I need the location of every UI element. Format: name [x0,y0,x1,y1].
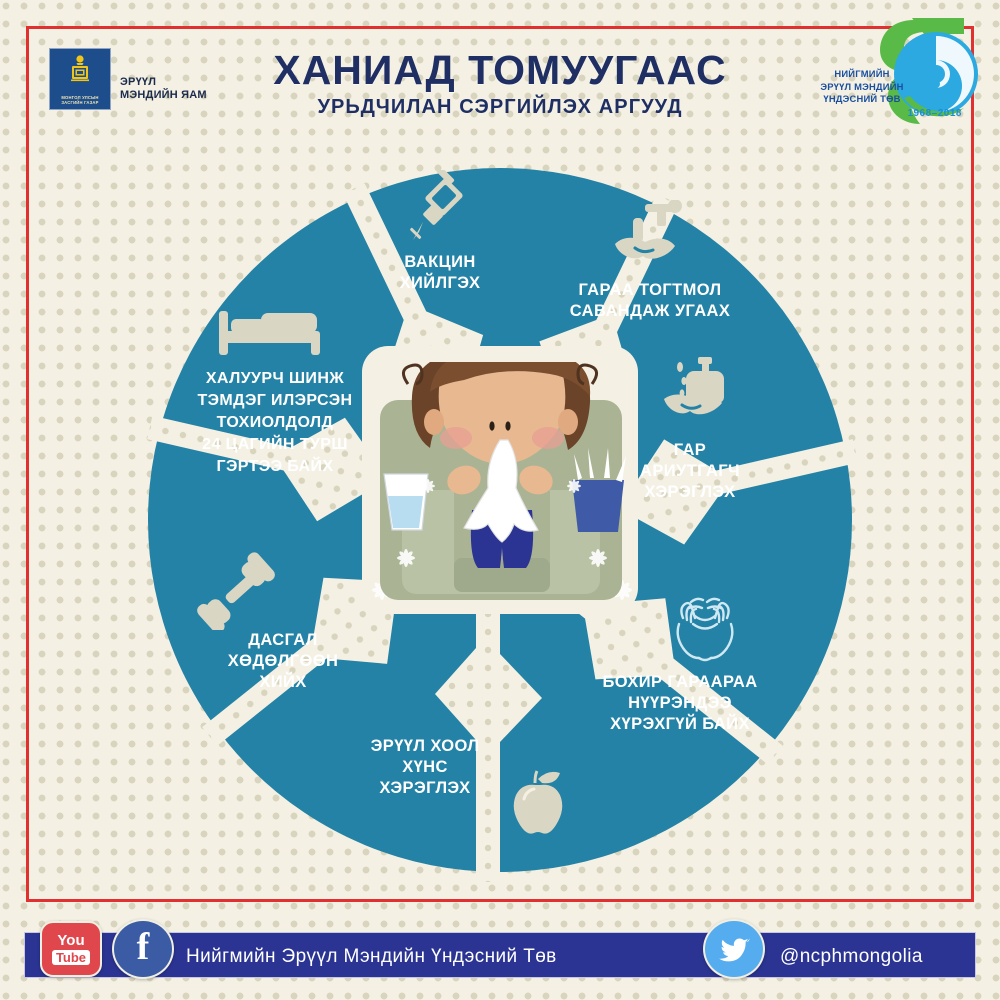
petal-line: БОХИР ГАРААРАА [550,672,810,693]
petal-line: ХЭРЭГЛЭХ [310,778,540,799]
petal-line: ГАРАА ТОГТМОЛ [525,280,775,301]
facebook-f-glyph: f [137,928,150,966]
sick-person-with-tissue-illustration [368,362,634,610]
petal-line: ТОХИОЛДОЛД [150,412,400,434]
petal-line: ГЭРТЭЭ БАЙХ [150,456,400,478]
petal-line: ХҮНС [310,757,540,778]
syringe-icon [405,170,471,248]
dumbbell-icon [195,550,281,630]
petal-line: ХИЙХ [168,672,398,693]
petal-line: ЭРҮҮЛ ХООЛ [310,736,540,757]
bed-icon [215,305,325,361]
petal-line: ХАЛУУРЧ ШИНЖ [150,368,400,390]
petal-label-dont-touch-face: БОХИР ГАРААРАА НҮҮРЭНДЭЭ ХҮРЭХГҮЙ БАЙХ [550,672,810,735]
petal-line: ХИЙЛГЭХ [340,273,540,294]
petal-line: ДАСГАЛ [168,630,398,651]
anniversary-org-line2: ЭРҮҮЛ МЭНДИЙН [798,81,926,94]
hand-sanitizer-icon [650,355,734,429]
petal-line: ТЭМДЭГ ИЛЭРСЭН [150,390,400,412]
footer-page-name: Нийгмийн Эрүүл Мэндийн Үндэсний Төв [186,946,557,968]
petal-label-exercise: ДАСГАЛ ХӨДӨЛГӨӨН ХИЙХ [168,630,398,693]
petal-label-handwashing: ГАРАА ТОГТМОЛ САВАНДАЖ УГААХ [525,280,775,322]
twitter-icon[interactable] [703,919,765,979]
anniversary-org-line3: ҮНДЭСНИЙ ТӨВ [798,93,926,106]
petal-line: ВАКЦИН [340,252,540,273]
anniversary-org-line1: НИЙГМИЙН [798,68,926,81]
anniversary-logo: НИЙГМИЙН ЭРҮҮЛ МЭНДИЙН ҮНДЭСНИЙ ТӨВ 1968… [796,12,986,132]
petal-label-healthy-food: ЭРҮҮЛ ХООЛ ХҮНС ХЭРЭГЛЭХ [310,736,540,799]
twitter-bird-glyph [717,934,751,964]
anniversary-years: 1968–2018 [907,108,962,119]
youtube-tube-text: Tube [52,950,90,965]
petal-line: САВАНДАЖ УГААХ [525,301,775,322]
facebook-icon[interactable]: f [112,919,174,979]
petal-line: НҮҮРЭНДЭЭ [550,693,810,714]
hands-on-face-icon [665,590,745,674]
petal-label-vaccination: ВАКЦИН ХИЙЛГЭХ [340,252,540,294]
youtube-you-text: You [57,933,84,948]
petal-label-stay-home: ХАЛУУРЧ ШИНЖ ТЭМДЭГ ИЛЭРСЭН ТОХИОЛДОЛД 2… [150,368,400,478]
petal-line: 24 ЦАГИЙН ТУРШ [150,434,400,456]
petal-line: ХҮРЭХГҮЙ БАЙХ [550,714,810,735]
handwash-tap-icon [605,200,685,270]
petal-line: ХӨДӨЛГӨӨН [168,651,398,672]
youtube-icon[interactable]: You Tube [40,921,102,977]
anniversary-org-name: НИЙГМИЙН ЭРҮҮЛ МЭНДИЙН ҮНДЭСНИЙ ТӨВ [798,68,926,106]
twitter-handle: @ncphmongolia [780,946,923,968]
